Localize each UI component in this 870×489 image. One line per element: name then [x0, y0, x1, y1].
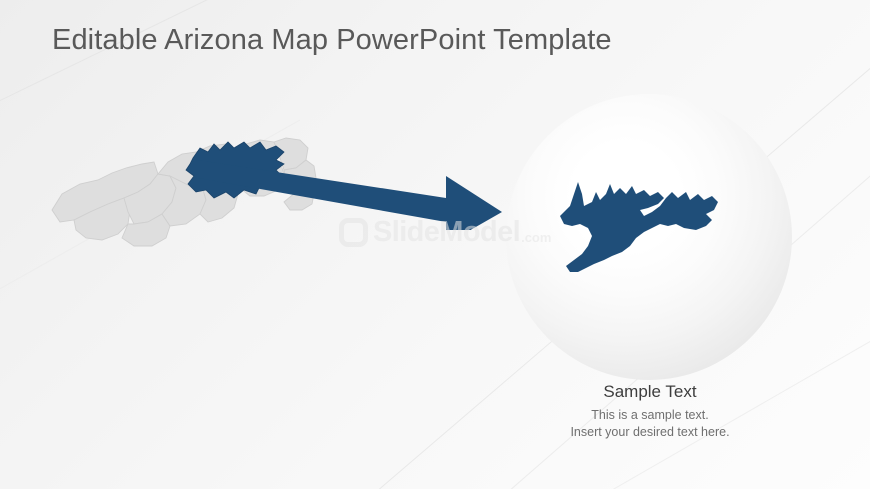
caption-block: Sample Text This is a sample text. Inser…: [486, 382, 814, 441]
slide-canvas: Editable Arizona Map PowerPoint Template: [0, 0, 870, 489]
callout-arrow: [196, 150, 516, 230]
arrow-shape: [198, 160, 502, 230]
magnified-region-shape: [548, 168, 748, 280]
caption-heading: Sample Text: [486, 382, 814, 402]
page-title: Editable Arizona Map PowerPoint Template: [52, 24, 612, 57]
caption-line-1: This is a sample text.: [486, 407, 814, 424]
region-outline: [560, 182, 718, 272]
sphere-clip: [506, 94, 792, 380]
caption-line-2: Insert your desired text here.: [486, 424, 814, 441]
magnified-region-sphere[interactable]: [506, 94, 792, 380]
caption-body: This is a sample text. Insert your desir…: [486, 407, 814, 441]
